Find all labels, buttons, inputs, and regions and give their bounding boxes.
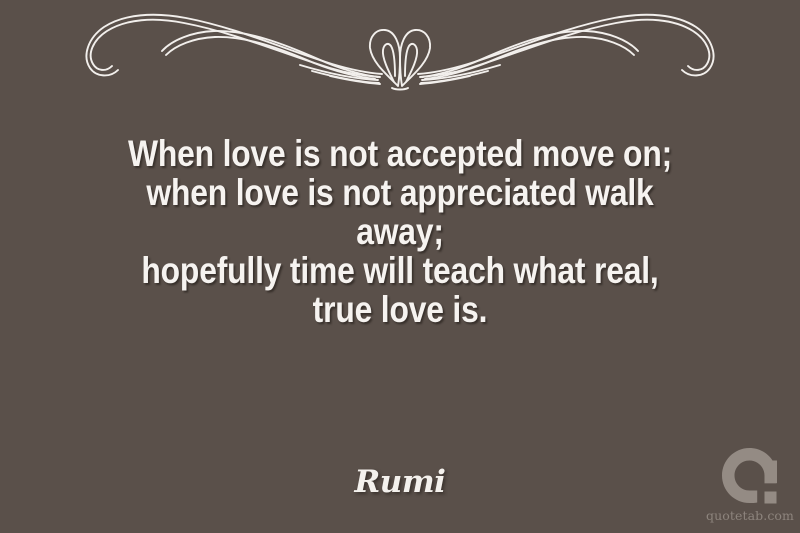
watermark-site-label: quotetab.com bbox=[700, 508, 800, 523]
quotetab-q-logo-icon bbox=[722, 448, 784, 508]
quote-line: When love is not accepted move on; bbox=[85, 134, 715, 173]
quote-author: Rumi bbox=[0, 464, 800, 500]
watermark[interactable]: quotetab.com bbox=[700, 446, 800, 530]
quote-line: away; bbox=[85, 212, 715, 251]
author-name: Rumi bbox=[355, 464, 446, 500]
flourish-divider-ornament bbox=[0, 4, 800, 96]
quote-line: true love is. bbox=[85, 290, 715, 329]
quote-line: hopefully time will teach what real, bbox=[85, 251, 715, 290]
quote-text: When love is not accepted move on; when … bbox=[34, 134, 766, 329]
quote-line: when love is not appreciated walk bbox=[85, 173, 715, 212]
quote-image-canvas: When love is not accepted move on; when … bbox=[0, 0, 800, 533]
